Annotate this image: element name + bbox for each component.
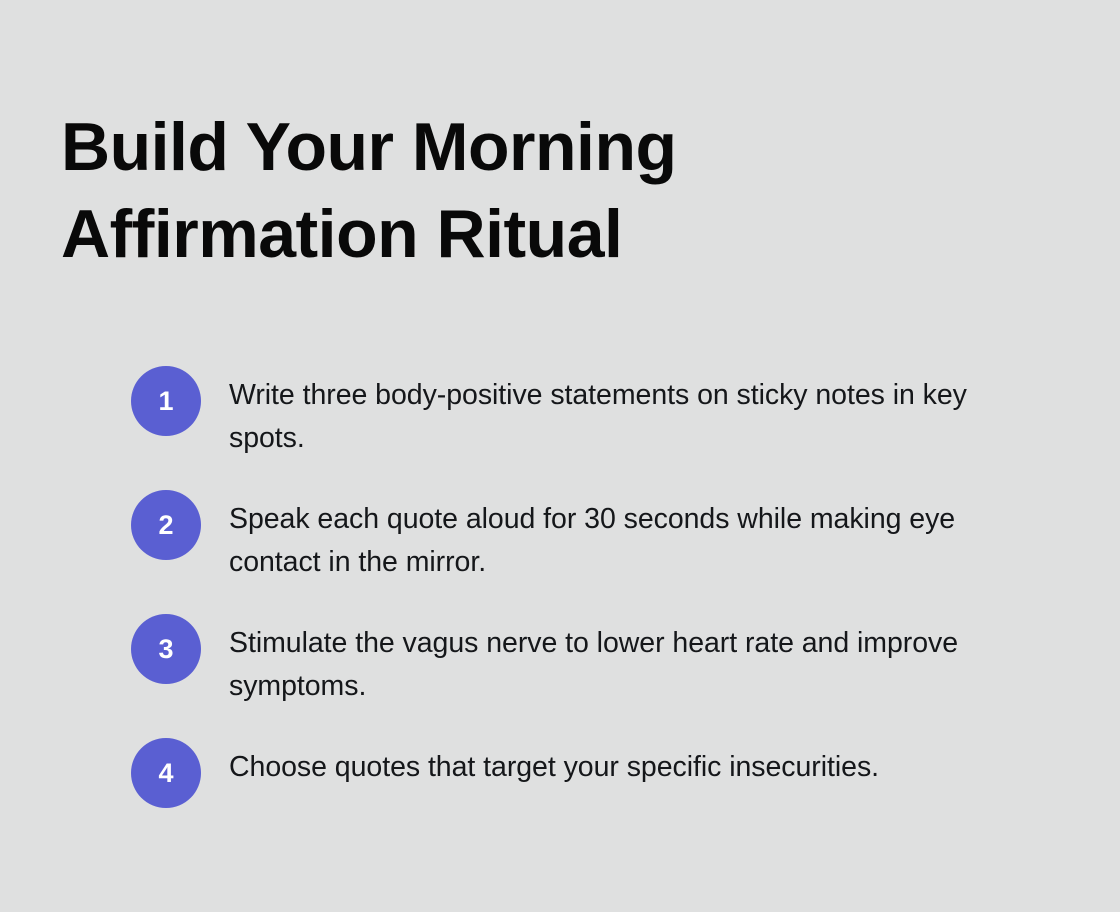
step-number-badge: 2 <box>131 490 201 560</box>
steps-list: 1 Write three body-positive statements o… <box>131 366 1051 808</box>
step-number-badge: 4 <box>131 738 201 808</box>
infographic-card: Build Your Morning Affirmation Ritual 1 … <box>0 0 1120 912</box>
step-description: Write three body-positive statements on … <box>229 366 1021 460</box>
list-item: 3 Stimulate the vagus nerve to lower hea… <box>131 614 1051 708</box>
list-item: 1 Write three body-positive statements o… <box>131 366 1051 460</box>
step-description: Stimulate the vagus nerve to lower heart… <box>229 614 1021 708</box>
page-title: Build Your Morning Affirmation Ritual <box>61 104 961 278</box>
list-item: 2 Speak each quote aloud for 30 seconds … <box>131 490 1051 584</box>
step-number-badge: 3 <box>131 614 201 684</box>
step-number-badge: 1 <box>131 366 201 436</box>
step-description: Speak each quote aloud for 30 seconds wh… <box>229 490 1021 584</box>
list-item: 4 Choose quotes that target your specifi… <box>131 738 1051 808</box>
step-description: Choose quotes that target your specific … <box>229 738 1021 789</box>
